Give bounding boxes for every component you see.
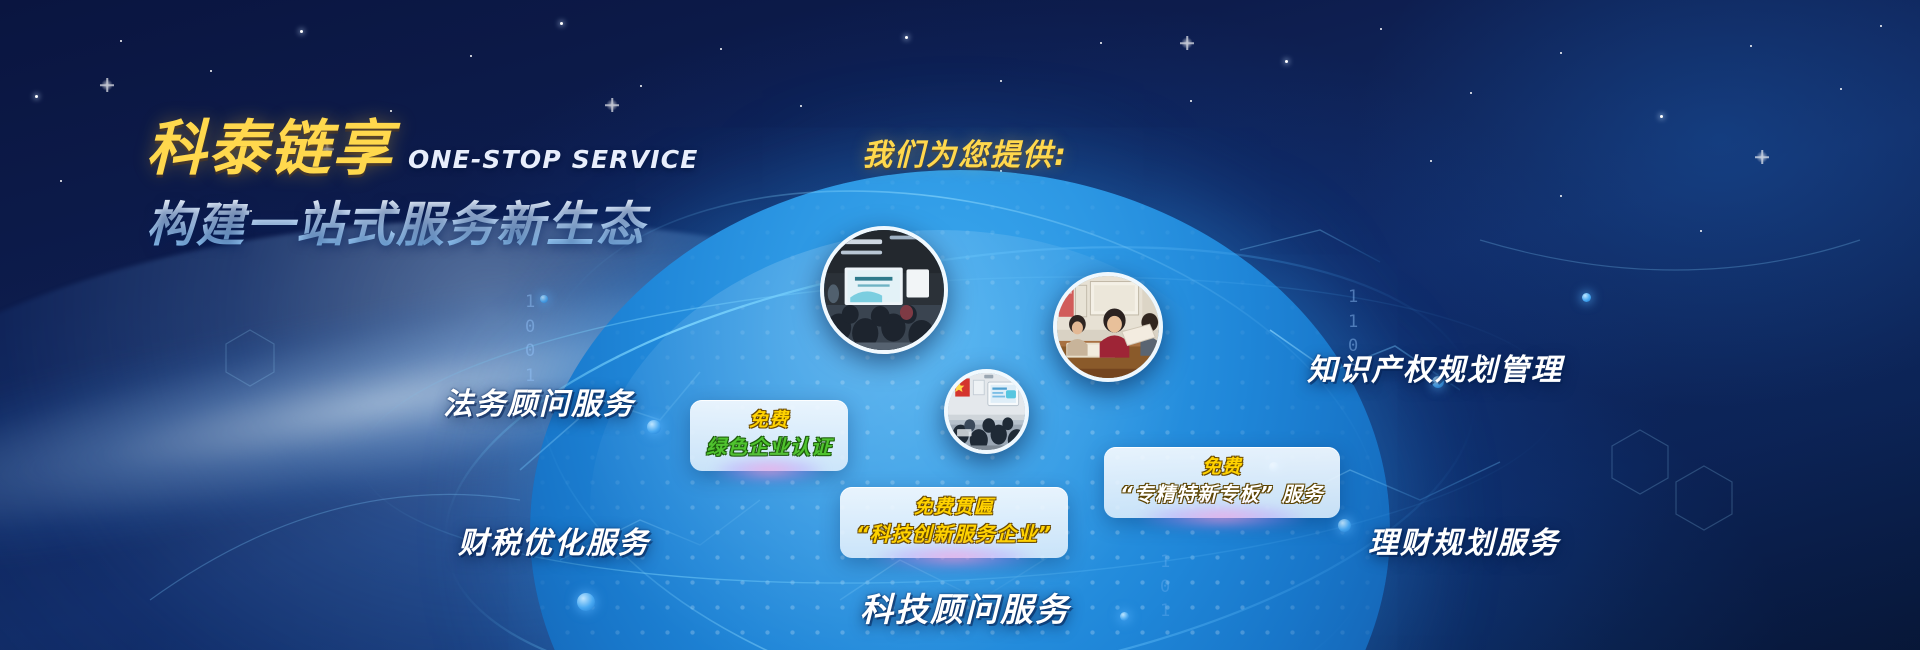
badge-line2: “科技创新服务企业” — [856, 521, 1052, 547]
badge-line1: 免费贯匾 — [856, 496, 1052, 520]
network-node — [540, 295, 548, 303]
network-node — [647, 420, 661, 434]
brand-title-en: ONE-STOP SERVICE — [408, 145, 699, 181]
badge-sme-board[interactable]: 免费 “专精特新专板” 服务 — [1104, 447, 1340, 518]
provide-heading: 我们为您提供: — [862, 130, 1068, 174]
network-node — [1120, 612, 1129, 621]
brand-title-cn: 科泰链享 — [146, 118, 394, 181]
network-node — [1338, 519, 1351, 532]
badge-line1: 免费 — [706, 409, 832, 433]
badge-line1: 免费 — [1120, 456, 1324, 480]
badge-green-cert[interactable]: 免费 绿色企业认证 — [690, 400, 848, 471]
badge-tech-plaque[interactable]: 免费贯匾 “科技创新服务企业” — [840, 487, 1068, 558]
service-label-legal: 法务顾问服务 — [443, 379, 635, 423]
service-label-tax: 财税优化服务 — [458, 518, 650, 562]
photo-office-consult — [1053, 272, 1163, 382]
photo-meeting-room — [944, 369, 1029, 454]
badge-line2: 绿色企业认证 — [706, 434, 832, 460]
badge-line2: “专精特新专板” 服务 — [1120, 481, 1324, 507]
service-label-tech: 科技顾问服务 — [860, 583, 1070, 631]
service-label-ip: 知识产权规划管理 — [1307, 345, 1563, 389]
brand-subtitle: 构建一站式服务新生态 — [146, 185, 699, 255]
network-node — [577, 593, 595, 611]
banner-stage: 1001 1100 101 科泰链享 ONE-STOP SERVICE 构建一站… — [0, 0, 1920, 650]
network-node — [1582, 293, 1591, 302]
photo-seminar-hall — [820, 226, 948, 354]
headline-block: 科泰链享 ONE-STOP SERVICE 构建一站式服务新生态 — [146, 118, 699, 255]
service-label-wealth: 理财规划服务 — [1368, 518, 1560, 562]
